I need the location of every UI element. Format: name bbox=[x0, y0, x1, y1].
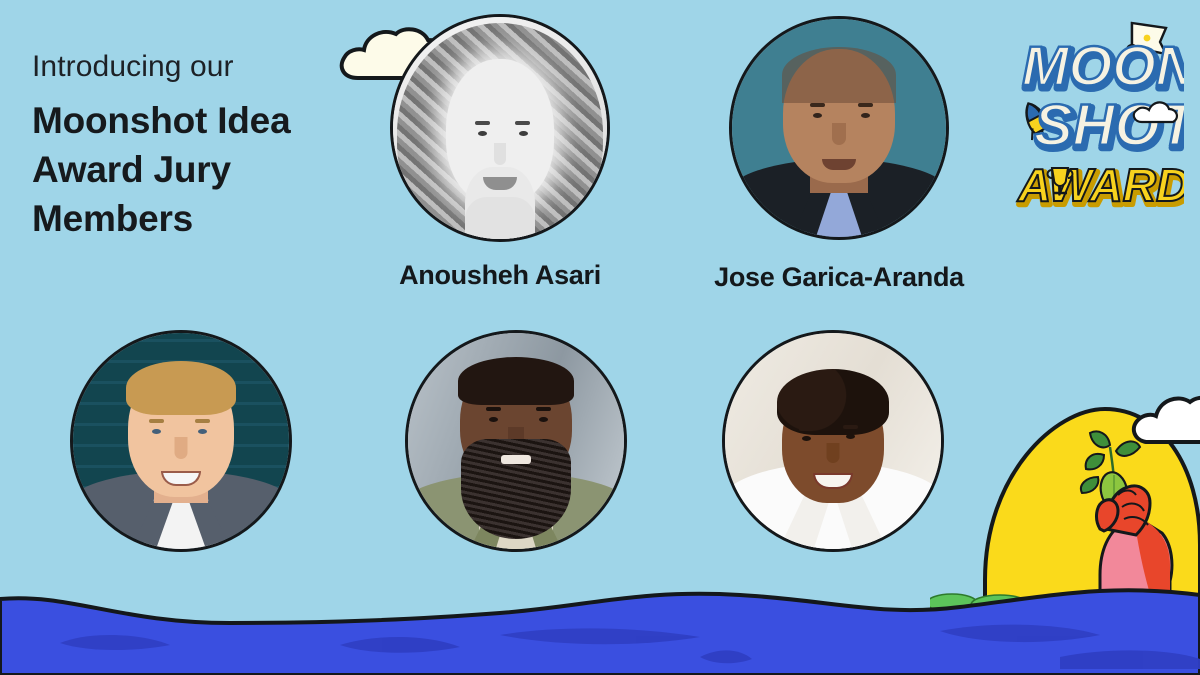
jury-member-name: Anousheh Asari bbox=[399, 260, 601, 291]
cloud-bottom-right-icon bbox=[1128, 384, 1200, 452]
avatar bbox=[390, 14, 610, 242]
jury-member: Rodney Williams bbox=[405, 330, 627, 552]
jury-member: Christopher Gergen bbox=[70, 330, 292, 552]
headline-kicker: Introducing our bbox=[32, 50, 372, 84]
jury-member: Tina Wells bbox=[722, 330, 944, 552]
moonshot-awards-logo: MOON MOON SHOT SHOT AWARDS AWARDS bbox=[1014, 14, 1184, 226]
avatar bbox=[729, 16, 949, 240]
acacia-trees bbox=[930, 575, 1200, 650]
avatar bbox=[405, 330, 627, 552]
poster-canvas: Introducing our Moonshot Idea Award Jury… bbox=[0, 0, 1200, 675]
headline-block: Introducing our Moonshot Idea Award Jury… bbox=[32, 50, 372, 243]
avatar bbox=[722, 330, 944, 552]
sun-circle bbox=[965, 395, 1200, 655]
logo-awards-text: AWARDS bbox=[1017, 159, 1184, 211]
hand-holding-sprout-icon bbox=[1070, 425, 1190, 675]
page-title: Moonshot Idea Award Jury Members bbox=[32, 96, 372, 244]
avatar bbox=[70, 330, 292, 552]
water-waves bbox=[0, 565, 1200, 675]
jury-member: Jose Garica-Aranda bbox=[729, 16, 949, 240]
jury-member: Anousheh Asari bbox=[390, 14, 610, 242]
logo-moon-text: MOON bbox=[1022, 34, 1184, 97]
jury-member-name: Jose Garica-Aranda bbox=[714, 262, 964, 293]
